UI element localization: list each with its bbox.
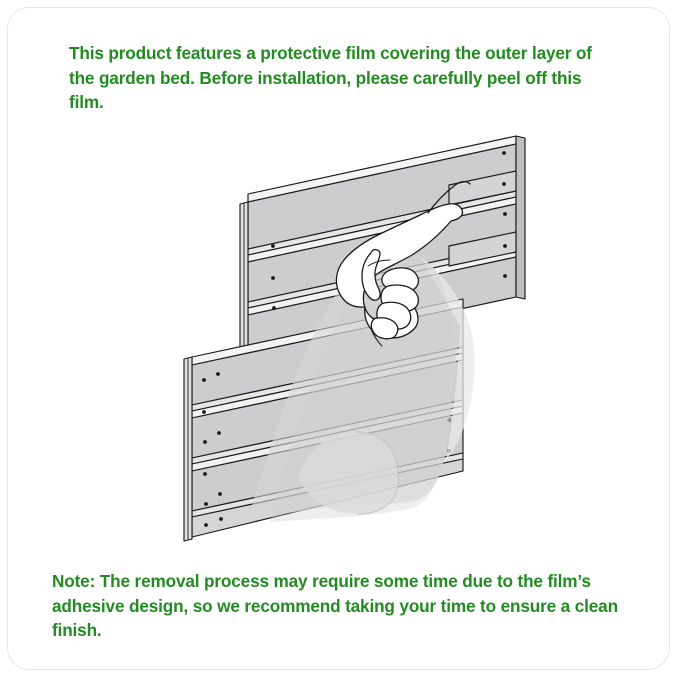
- lower-panel-rib-2b: [192, 406, 463, 471]
- protective-film-sheet: [248, 248, 460, 518]
- upper-panel-board-2: [248, 204, 516, 302]
- upper-panel-step-b: [449, 232, 516, 266]
- lower-panel-assembly: [184, 299, 463, 541]
- hand-finger-ring: [377, 302, 411, 329]
- upper-panel-rib-2: [248, 244, 516, 308]
- upper-panel-assembly: [240, 136, 525, 359]
- hand-pinch-point: [371, 329, 382, 346]
- protective-film-right-flap: [420, 256, 475, 460]
- upper-panel-rib-1: [248, 191, 516, 255]
- lower-panel-board-4: [192, 459, 463, 537]
- lower-panel-board-2: [192, 360, 463, 458]
- upper-panel-step-a: [449, 171, 516, 205]
- lower-panel-rib-1: [192, 347, 463, 411]
- lower-panel-rib-1b: [192, 353, 463, 418]
- hand-wrist: [428, 182, 470, 213]
- upper-panel-board-3: [248, 257, 516, 355]
- hand-finger-pinky: [371, 318, 398, 339]
- hand-finger-index: [382, 268, 419, 292]
- upper-panel-rib-2b: [248, 250, 516, 315]
- lower-panel-top-edge: [192, 299, 463, 365]
- upper-panel-left-lip: [240, 202, 248, 359]
- hand-finger-middle: [381, 285, 418, 312]
- hand-back: [336, 204, 462, 338]
- lower-panel-rib-3: [192, 453, 463, 517]
- upper-panel-right-endcap: [516, 136, 525, 299]
- note-instruction-text: Note: The removal process may require so…: [52, 569, 632, 643]
- upper-panel-top-edge: [248, 136, 516, 202]
- upper-panel-rib-1b: [248, 197, 516, 262]
- hand-knuckle-crease: [368, 260, 390, 266]
- lower-panel-rivets: [202, 372, 451, 527]
- upper-panel-board-1: [248, 144, 516, 249]
- protective-film-haze: [270, 246, 456, 522]
- lower-panel-left-lip: [184, 357, 192, 541]
- protective-film-curl-edge: [356, 432, 398, 514]
- peeling-hand: [336, 182, 470, 346]
- lower-panel-rib-2: [192, 400, 463, 464]
- illustration-root: [184, 136, 525, 541]
- hand-thumb: [362, 250, 380, 301]
- top-instruction-text: This product features a protective film …: [69, 41, 614, 115]
- lower-panel-board-3: [192, 413, 463, 511]
- instruction-card: This product features a protective film …: [7, 7, 670, 670]
- protective-film-curl: [298, 432, 398, 514]
- protective-film: [248, 246, 475, 522]
- lower-panel-board-1: [192, 307, 463, 405]
- upper-panel-rivets: [271, 151, 507, 310]
